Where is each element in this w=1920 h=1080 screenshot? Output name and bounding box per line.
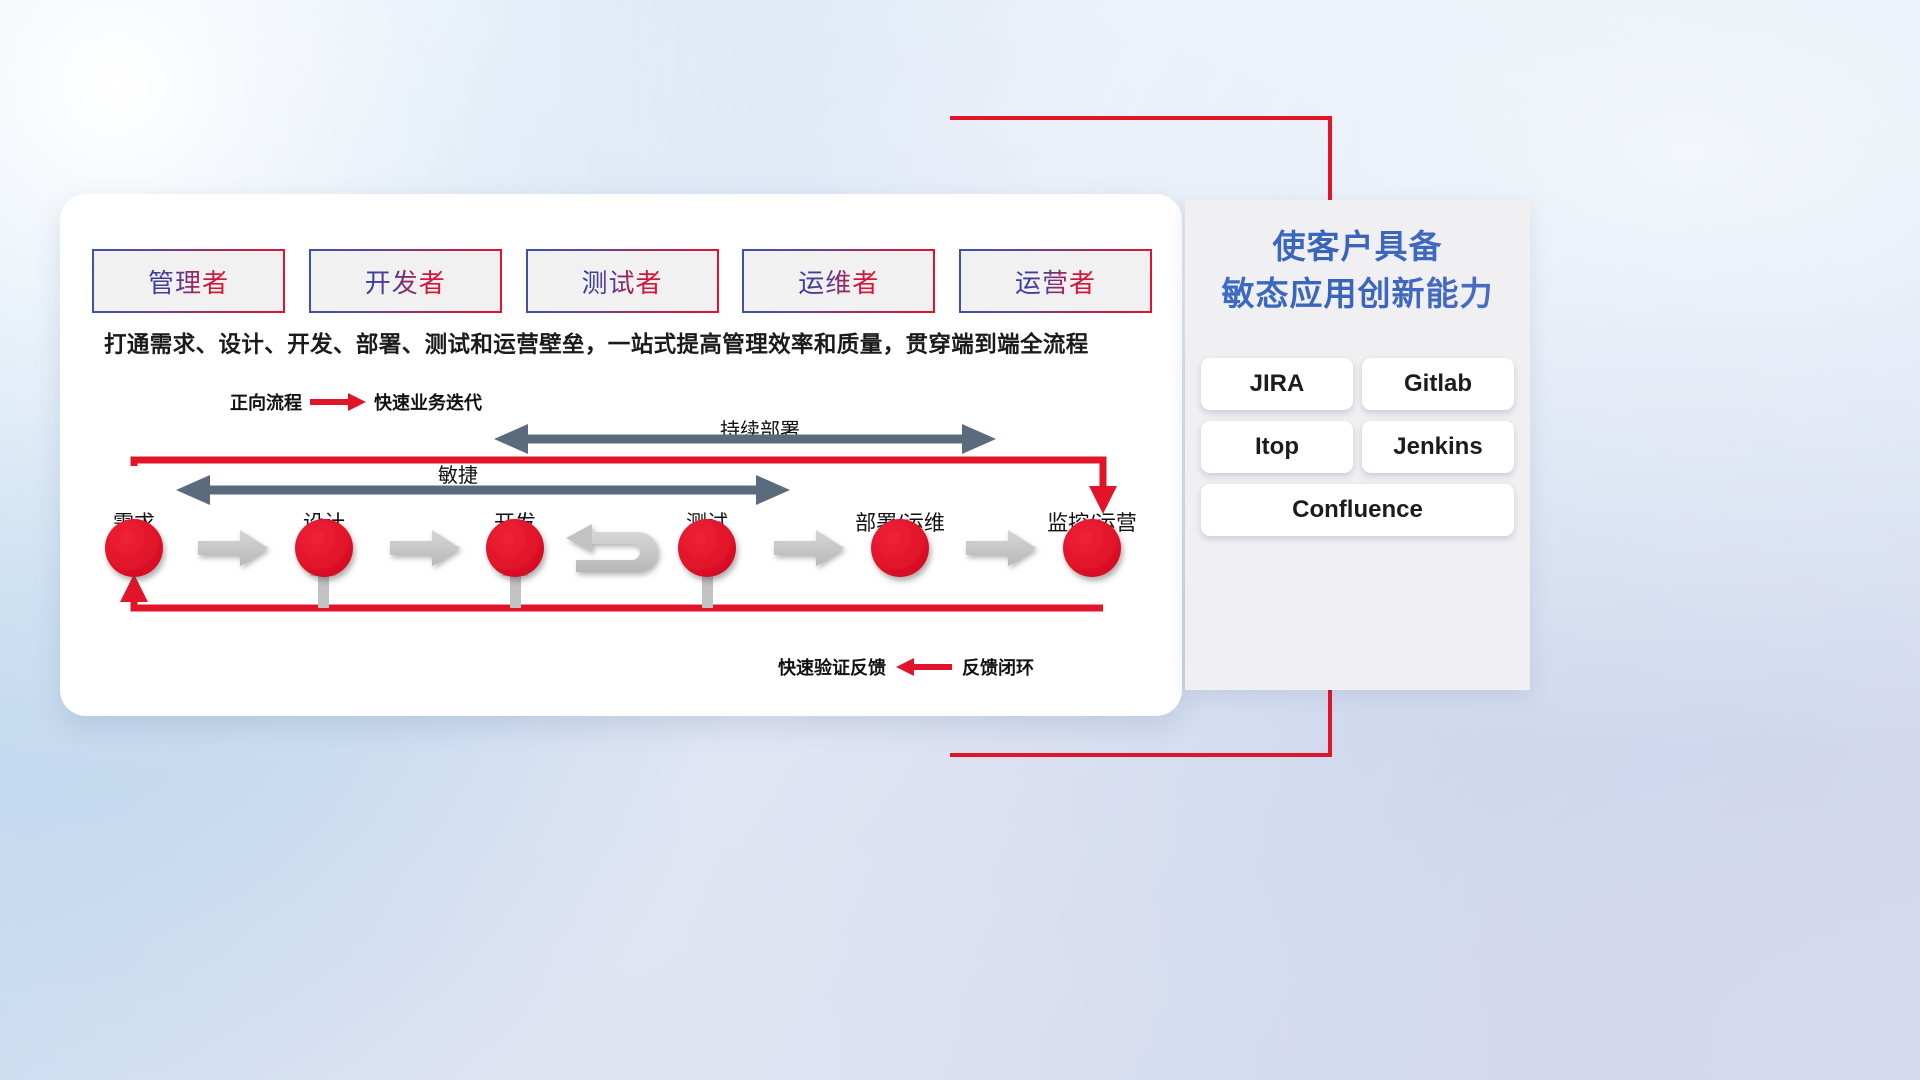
band-arrow-agile [176,475,790,505]
tool-chip-itop[interactable]: Itop [1201,421,1353,473]
role-label: 运营者 [1015,263,1096,300]
panel-title: 使客户具备 敏态应用创新能力 [1185,224,1530,318]
stage-node-testing[interactable] [678,519,736,577]
stage-node-monitor-operate[interactable] [1063,519,1121,577]
panel-title-line2: 敏态应用创新能力 [1185,271,1530,318]
tool-chip-jira[interactable]: JIRA [1201,358,1353,410]
role-label: 测试者 [581,263,662,300]
stage-node-requirement[interactable] [105,519,163,577]
band-arrow-continuous-deployment [494,424,996,454]
tool-chip-list: JIRA Gitlab Itop Jenkins Confluence [1195,358,1520,536]
connector-arrow-5 [966,530,1036,566]
role-label: 开发者 [365,263,446,300]
panel-title-line1: 使客户具备 [1185,224,1530,271]
connector-arrow-4 [774,530,844,566]
tool-chip-confluence[interactable]: Confluence [1201,484,1514,536]
connector-arrow-1 [198,530,268,566]
stage-node-design[interactable] [295,519,353,577]
stage-node-deploy-ops[interactable] [871,519,929,577]
tool-chip-jenkins[interactable]: Jenkins [1362,421,1514,473]
role-label: 管理者 [148,263,229,300]
connector-loopback-arrow [566,524,658,580]
main-diagram-card: 管理者 开发者 测试者 运维者 运营者 打通需求、设计、开发、部署、测试和运营壁… [60,194,1182,716]
stage-node-development[interactable] [486,519,544,577]
tool-chip-gitlab[interactable]: Gitlab [1362,358,1514,410]
connector-arrow-2 [390,530,460,566]
value-proposition-panel: 使客户具备 敏态应用创新能力 JIRA Gitlab Itop Jenkins … [1185,200,1530,690]
role-label: 运维者 [798,263,879,300]
